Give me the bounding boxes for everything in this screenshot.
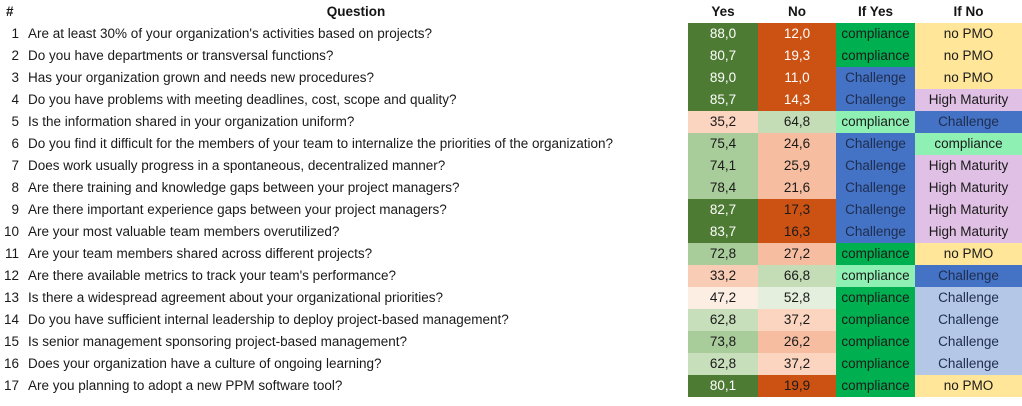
if-no-label-cell: Challenge [915, 287, 1022, 309]
no-percent-cell: 37,2 [758, 353, 836, 375]
question-text: Do you have problems with meeting deadli… [24, 89, 688, 111]
column-header-number: # [0, 0, 24, 23]
if-no-label-cell: no PMO [915, 243, 1022, 265]
question-text: Are you planning to adopt a new PPM soft… [24, 375, 688, 397]
no-percent-cell: 19,9 [758, 375, 836, 397]
yes-percent-cell: 80,7 [688, 45, 758, 67]
if-yes-label-cell: compliance [836, 331, 915, 353]
if-yes-label-cell: compliance [836, 309, 915, 331]
if-yes-label-cell: Challenge [836, 177, 915, 199]
yes-percent-cell: 88,0 [688, 23, 758, 45]
row-number: 16 [0, 353, 24, 375]
column-header-no: No [758, 0, 836, 23]
yes-percent-cell: 62,8 [688, 309, 758, 331]
yes-percent-cell: 89,0 [688, 67, 758, 89]
if-no-label-cell: High Maturity [915, 199, 1022, 221]
question-text: Is the information shared in your organi… [24, 111, 688, 133]
if-yes-label-cell: Challenge [836, 89, 915, 111]
table-row: 6Do you find it difficult for the member… [0, 133, 1022, 155]
question-text: Are at least 30% of your organization's … [24, 23, 688, 45]
question-text: Are there available metrics to track you… [24, 265, 688, 287]
table-row: 2Do you have departments or transversal … [0, 45, 1022, 67]
column-header-if-yes: If Yes [836, 0, 915, 23]
if-yes-label-cell: compliance [836, 375, 915, 397]
no-percent-cell: 25,9 [758, 155, 836, 177]
if-yes-label-cell: compliance [836, 111, 915, 133]
assessment-table: # Question Yes No If Yes If No 1Are at l… [0, 0, 1022, 397]
question-text: Are your team members shared across diff… [24, 243, 688, 265]
row-number: 6 [0, 133, 24, 155]
if-yes-label-cell: compliance [836, 45, 915, 67]
row-number: 11 [0, 243, 24, 265]
row-number: 14 [0, 309, 24, 331]
if-yes-label-cell: Challenge [836, 155, 915, 177]
question-text: Do you have sufficient internal leadersh… [24, 309, 688, 331]
if-yes-label-cell: Challenge [836, 67, 915, 89]
question-text: Are there important experience gaps betw… [24, 199, 688, 221]
table-row: 11Are your team members shared across di… [0, 243, 1022, 265]
if-yes-label-cell: compliance [836, 287, 915, 309]
question-text: Are there training and knowledge gaps be… [24, 177, 688, 199]
row-number: 13 [0, 287, 24, 309]
no-percent-cell: 26,2 [758, 331, 836, 353]
table-row: 17Are you planning to adopt a new PPM so… [0, 375, 1022, 397]
table-row: 10Are your most valuable team members ov… [0, 221, 1022, 243]
yes-percent-cell: 47,2 [688, 287, 758, 309]
no-percent-cell: 37,2 [758, 309, 836, 331]
table-row: 1Are at least 30% of your organization's… [0, 23, 1022, 45]
if-yes-label-cell: compliance [836, 243, 915, 265]
no-percent-cell: 14,3 [758, 89, 836, 111]
column-header-question: Question [24, 0, 688, 23]
yes-percent-cell: 83,7 [688, 221, 758, 243]
if-yes-label-cell: Challenge [836, 133, 915, 155]
if-no-label-cell: High Maturity [915, 89, 1022, 111]
table-row: 8Are there training and knowledge gaps b… [0, 177, 1022, 199]
yes-percent-cell: 74,1 [688, 155, 758, 177]
if-no-label-cell: Challenge [915, 331, 1022, 353]
if-yes-label-cell: compliance [836, 23, 915, 45]
if-yes-label-cell: Challenge [836, 221, 915, 243]
if-yes-label-cell: Challenge [836, 199, 915, 221]
row-number: 15 [0, 331, 24, 353]
yes-percent-cell: 33,2 [688, 265, 758, 287]
if-yes-label-cell: compliance [836, 265, 915, 287]
table-row: 4Do you have problems with meeting deadl… [0, 89, 1022, 111]
row-number: 4 [0, 89, 24, 111]
table-row: 12Are there available metrics to track y… [0, 265, 1022, 287]
no-percent-cell: 12,0 [758, 23, 836, 45]
if-no-label-cell: no PMO [915, 375, 1022, 397]
yes-percent-cell: 78,4 [688, 177, 758, 199]
if-no-label-cell: High Maturity [915, 221, 1022, 243]
yes-percent-cell: 80,1 [688, 375, 758, 397]
if-no-label-cell: Challenge [915, 111, 1022, 133]
column-header-yes: Yes [688, 0, 758, 23]
header-row: # Question Yes No If Yes If No [0, 0, 1022, 23]
yes-percent-cell: 85,7 [688, 89, 758, 111]
question-text: Has your organization grown and needs ne… [24, 67, 688, 89]
table-row: 13Is there a widespread agreement about … [0, 287, 1022, 309]
row-number: 10 [0, 221, 24, 243]
table-row: 16Does your organization have a culture … [0, 353, 1022, 375]
if-no-label-cell: no PMO [915, 67, 1022, 89]
if-no-label-cell: no PMO [915, 45, 1022, 67]
yes-percent-cell: 73,8 [688, 331, 758, 353]
no-percent-cell: 16,3 [758, 221, 836, 243]
yes-percent-cell: 75,4 [688, 133, 758, 155]
question-text: Are your most valuable team members over… [24, 221, 688, 243]
if-no-label-cell: no PMO [915, 23, 1022, 45]
if-yes-label-cell: compliance [836, 353, 915, 375]
if-no-label-cell: Challenge [915, 309, 1022, 331]
no-percent-cell: 24,6 [758, 133, 836, 155]
no-percent-cell: 64,8 [758, 111, 836, 133]
no-percent-cell: 19,3 [758, 45, 836, 67]
table-row: 14Do you have sufficient internal leader… [0, 309, 1022, 331]
yes-percent-cell: 62,8 [688, 353, 758, 375]
no-percent-cell: 21,6 [758, 177, 836, 199]
questionnaire-sheet: # Question Yes No If Yes If No 1Are at l… [0, 0, 1022, 406]
question-text: Does your organization have a culture of… [24, 353, 688, 375]
yes-percent-cell: 35,2 [688, 111, 758, 133]
no-percent-cell: 52,8 [758, 287, 836, 309]
row-number: 5 [0, 111, 24, 133]
table-row: 15Is senior management sponsoring projec… [0, 331, 1022, 353]
table-row: 9Are there important experience gaps bet… [0, 199, 1022, 221]
if-no-label-cell: High Maturity [915, 177, 1022, 199]
column-header-if-no: If No [915, 0, 1022, 23]
row-number: 8 [0, 177, 24, 199]
if-no-label-cell: compliance [915, 133, 1022, 155]
row-number: 9 [0, 199, 24, 221]
question-text: Is senior management sponsoring project-… [24, 331, 688, 353]
no-percent-cell: 11,0 [758, 67, 836, 89]
table-row: 3Has your organization grown and needs n… [0, 67, 1022, 89]
row-number: 3 [0, 67, 24, 89]
question-text: Is there a widespread agreement about yo… [24, 287, 688, 309]
row-number: 17 [0, 375, 24, 397]
if-no-label-cell: Challenge [915, 353, 1022, 375]
question-text: Does work usually progress in a spontane… [24, 155, 688, 177]
table-row: 7Does work usually progress in a spontan… [0, 155, 1022, 177]
table-header: # Question Yes No If Yes If No [0, 0, 1022, 23]
yes-percent-cell: 72,8 [688, 243, 758, 265]
no-percent-cell: 27,2 [758, 243, 836, 265]
no-percent-cell: 17,3 [758, 199, 836, 221]
no-percent-cell: 66,8 [758, 265, 836, 287]
yes-percent-cell: 82,7 [688, 199, 758, 221]
row-number: 12 [0, 265, 24, 287]
table-body: 1Are at least 30% of your organization's… [0, 23, 1022, 397]
question-text: Do you have departments or transversal f… [24, 45, 688, 67]
row-number: 1 [0, 23, 24, 45]
table-row: 5Is the information shared in your organ… [0, 111, 1022, 133]
row-number: 7 [0, 155, 24, 177]
if-no-label-cell: Challenge [915, 265, 1022, 287]
question-text: Do you find it difficult for the members… [24, 133, 688, 155]
row-number: 2 [0, 45, 24, 67]
if-no-label-cell: High Maturity [915, 155, 1022, 177]
